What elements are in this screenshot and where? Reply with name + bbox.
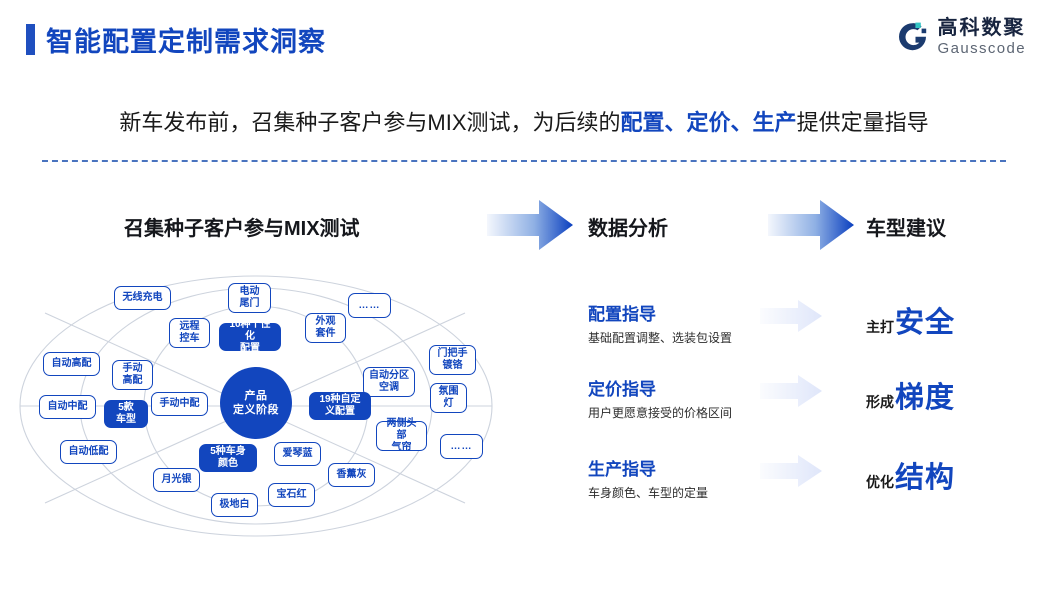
diagram-node[interactable]: 自动中配: [39, 395, 96, 419]
page-title: 智能配置定制需求洞察: [46, 20, 326, 59]
center-node-line1: 产品: [245, 389, 268, 403]
diagram-node[interactable]: 极地白: [211, 493, 258, 517]
column-header-analysis: 数据分析: [588, 212, 668, 241]
guidance-row: 配置指导 基础配置调整、选装包设置: [588, 300, 732, 346]
section-divider: [42, 160, 1006, 162]
guidance-result: 主打 安全: [866, 299, 955, 341]
diagram-tag[interactable]: 5款 车型: [104, 400, 148, 428]
column-header-advice: 车型建议: [866, 212, 946, 241]
diagram-node[interactable]: 宝石红: [268, 483, 315, 507]
center-node-line2: 定义阶段: [233, 403, 279, 417]
result-prefix: 形成: [866, 392, 894, 412]
subtitle-part2: 提供定量指导: [797, 110, 929, 135]
guidance-result: 形成 梯度: [866, 374, 955, 416]
guidance-row-desc: 车身颜色、车型的定量: [588, 484, 708, 501]
result-arrow-icon: [760, 455, 822, 487]
column-header-collect: 召集种子客户参与MIX测试: [124, 212, 360, 241]
diagram-node[interactable]: 自动分区 空调: [363, 367, 415, 397]
diagram-node[interactable]: 电动 尾门: [228, 283, 271, 313]
diagram-tag[interactable]: 19种自定 义配置: [309, 392, 371, 420]
result-arrow-icon: [760, 300, 822, 332]
guidance-row-desc: 基础配置调整、选装包设置: [588, 329, 732, 346]
brand-text: 高科数聚 Gausscode: [938, 18, 1026, 56]
guidance-row: 生产指导 车身颜色、车型的定量: [588, 455, 708, 501]
diagram-tag[interactable]: 10种个性化 配置: [219, 323, 281, 351]
brand-name-en: Gausscode: [938, 41, 1026, 56]
guidance-row-desc: 用户更愿意接受的价格区间: [588, 404, 732, 421]
gausscode-logo-icon: [895, 20, 929, 54]
page-header: 智能配置定制需求洞察 高科数聚 Gausscode: [0, 0, 1048, 78]
diagram-node[interactable]: 香薰灰: [328, 463, 375, 487]
result-word: 结构: [895, 454, 955, 496]
result-word: 梯度: [895, 374, 955, 416]
subtitle: 新车发布前，召集种子客户参与MIX测试，为后续的配置、定价、生产提供定量指导: [0, 105, 1048, 137]
flow-arrow-icon: [768, 200, 854, 250]
brand-name-cn: 高科数聚: [938, 18, 1026, 38]
diagram-center-node: 产品 定义阶段: [220, 367, 292, 439]
guidance-result: 优化 结构: [866, 454, 955, 496]
guidance-row-title: 定价指导: [588, 375, 732, 400]
diagram-node[interactable]: 门把手 镀铬: [429, 345, 476, 375]
diagram-node[interactable]: 氛围 灯: [430, 383, 467, 413]
diagram-node[interactable]: 自动高配: [43, 352, 100, 376]
diagram-node-placeholder[interactable]: ……: [440, 434, 483, 459]
diagram-node[interactable]: 爱琴蓝: [274, 442, 321, 466]
diagram-tag[interactable]: 5种车身 颜色: [199, 444, 257, 472]
brand-logo: 高科数聚 Gausscode: [895, 18, 1026, 56]
diagram-node[interactable]: 手动 高配: [112, 360, 153, 390]
flow-arrow-icon: [487, 200, 573, 250]
title-accent-bar: [26, 24, 35, 55]
diagram-node[interactable]: 两侧头部 气帘: [376, 421, 427, 451]
guidance-row-title: 配置指导: [588, 300, 732, 325]
guidance-row-title: 生产指导: [588, 455, 708, 480]
result-arrow-icon: [760, 375, 822, 407]
result-prefix: 主打: [866, 317, 894, 337]
diagram-node-placeholder[interactable]: ……: [348, 293, 391, 318]
diagram-node[interactable]: 月光银: [153, 468, 200, 492]
diagram-node[interactable]: 无线充电: [114, 286, 171, 310]
subtitle-part1: 新车发布前，召集种子客户参与MIX测试，为后续的: [119, 110, 620, 135]
guidance-row: 定价指导 用户更愿意接受的价格区间: [588, 375, 732, 421]
diagram-node[interactable]: 自动低配: [60, 440, 117, 464]
diagram-node[interactable]: 外观 套件: [305, 313, 346, 343]
diagram-node[interactable]: 手动中配: [151, 392, 208, 416]
result-word: 安全: [895, 299, 955, 341]
diagram-node[interactable]: 远程 控车: [169, 318, 210, 348]
result-prefix: 优化: [866, 472, 894, 492]
subtitle-highlight: 配置、定价、生产: [621, 110, 797, 135]
